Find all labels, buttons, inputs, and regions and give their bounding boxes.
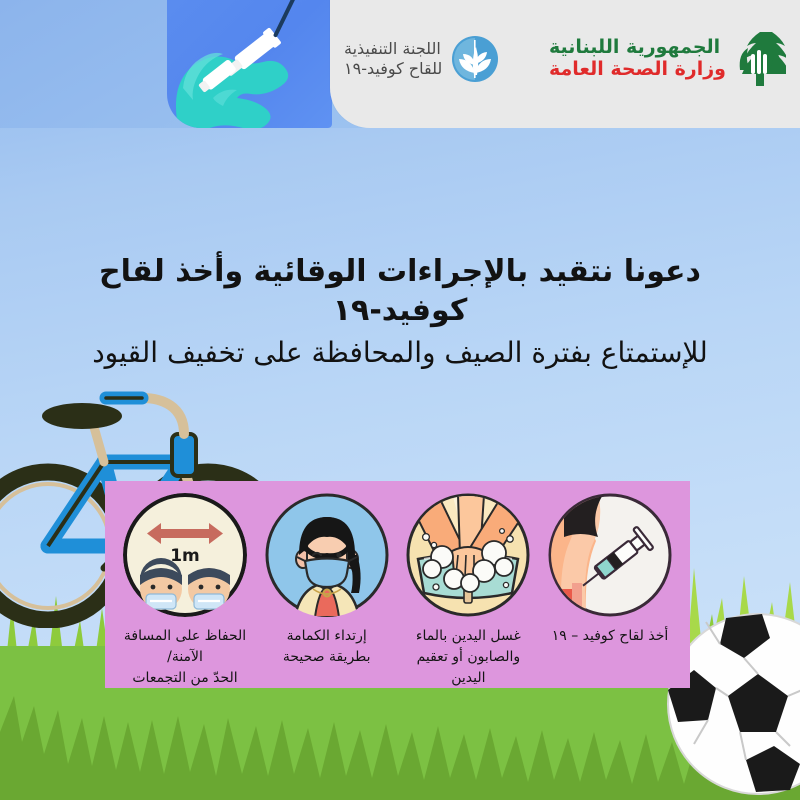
girl-wearing-face-mask-icon <box>265 493 389 617</box>
svg-text:1m: 1m <box>170 546 200 566</box>
tile-caption: أخذ لقاح كوفيد – ١٩ <box>552 626 669 647</box>
committee-line-1: اللجنة التنفيذية <box>344 39 441 59</box>
logo-row: الجمهورية اللبنانية وزارة الصحة العامة <box>344 24 786 94</box>
gloved-hand-holding-syringe <box>167 0 332 128</box>
ministry-line-2: وزارة الصحة العامة <box>549 59 726 81</box>
headline-line-2: للإستمتاع بفترة الصيف والمحافظة على تخفي… <box>0 334 800 372</box>
tile-wash-hands[interactable]: غسل اليدين بالماء والصابون أو تعقيم اليد… <box>402 493 534 689</box>
poster-root: 1m <box>0 0 800 800</box>
prevention-measures-panel: 1m <box>105 481 690 688</box>
ministry-line-1: الجمهورية اللبنانية <box>549 37 720 59</box>
tile-caption: إرتداء الكمامة بطريقة صحيحة <box>283 626 371 668</box>
headline-line-1: دعونا نتقيد بالإجراءات الوقائية وأخذ لقا… <box>0 252 800 330</box>
two-masked-people-one-meter-distance-icon: 1m <box>123 493 247 617</box>
vaccine-hero-panel <box>167 0 332 128</box>
tile-get-vaccinated[interactable]: أخذ لقاح كوفيد – ١٩ <box>544 493 676 647</box>
tile-caption: غسل اليدين بالماء والصابون أو تعقيم اليد… <box>402 626 534 689</box>
vaccine-committee-leaf-circle-logo <box>451 35 499 83</box>
headline-block: دعونا نتقيد بالإجراءات الوقائية وأخذ لقا… <box>0 252 800 372</box>
tile-caption: الحفاظ على المسافة الآمنة/ الحدّ من التج… <box>119 626 251 689</box>
header-band: الجمهورية اللبنانية وزارة الصحة العامة <box>0 0 800 128</box>
arm-receiving-vaccine-syringe-icon <box>548 493 672 617</box>
lebanon-cedar-hands-emblem <box>734 30 786 88</box>
washing-hands-with-soap-icon <box>406 493 530 617</box>
committee-text-block: اللجنة التنفيذية للقاح كوفيد-١٩ <box>344 39 442 79</box>
logo-panel: الجمهورية اللبنانية وزارة الصحة العامة <box>330 0 800 128</box>
prevention-tiles: 1m <box>105 481 690 688</box>
tile-wear-mask[interactable]: إرتداء الكمامة بطريقة صحيحة <box>261 493 393 668</box>
tile-social-distancing[interactable]: 1m <box>119 493 251 689</box>
vaccine-committee-logo: اللجنة التنفيذية للقاح كوفيد-١٩ <box>344 35 499 83</box>
ministry-of-public-health-logo: الجمهورية اللبنانية وزارة الصحة العامة <box>549 30 786 88</box>
committee-line-2: للقاح كوفيد-١٩ <box>344 59 442 79</box>
ministry-text-block: الجمهورية اللبنانية وزارة الصحة العامة <box>549 37 726 81</box>
